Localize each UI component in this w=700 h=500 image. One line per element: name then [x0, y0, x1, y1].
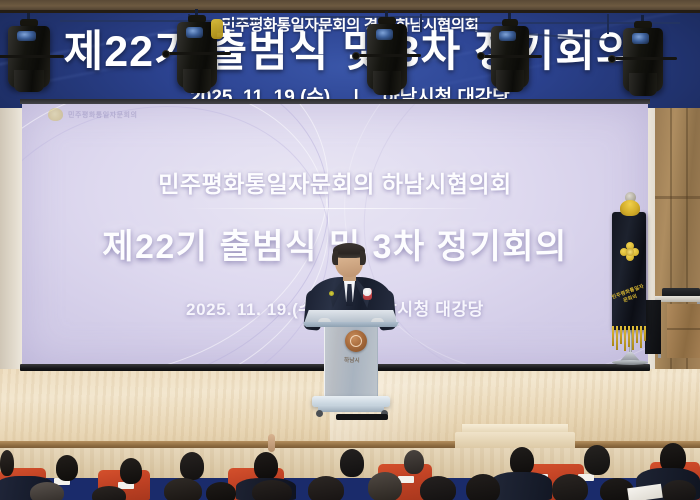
- light-lens: [376, 29, 394, 40]
- audience-person-head: [552, 474, 588, 500]
- flag-tassel: [620, 200, 640, 216]
- stage-light-fixture: [367, 24, 407, 90]
- light-yoke-arm: [0, 55, 64, 58]
- speaker-lapel-corsage: [363, 288, 372, 300]
- light-barrel: [496, 70, 523, 92]
- event-photograph: 민주평화통일자문회의 경기 하남시협의회 제22기 출범식 및 3차 정기회의 …: [0, 0, 700, 500]
- slide-divider: [185, 208, 485, 209]
- audience-person-head: [92, 486, 126, 500]
- flag-emblem-icon: [620, 242, 639, 261]
- audience-person-head: [510, 447, 534, 475]
- speaker-hair-side: [360, 251, 366, 265]
- flag-fringe: [608, 326, 650, 352]
- light-yoke-arm: [163, 52, 230, 55]
- wall-left-panel: [0, 108, 24, 370]
- audience-person-head: [206, 482, 236, 500]
- ceiling-wire: [607, 14, 609, 34]
- fringe-strand: [644, 326, 646, 341]
- audience-person-head: [56, 455, 78, 481]
- flag-stand: [612, 352, 648, 364]
- light-barrel: [183, 69, 212, 93]
- light-lens: [499, 31, 516, 42]
- fringe-strand: [636, 326, 638, 343]
- audience-person-head: [308, 476, 344, 500]
- light-yoke-arm: [609, 57, 676, 60]
- light-color-gel: [211, 19, 223, 39]
- audience-person-head: [420, 476, 456, 500]
- audience-person-head: [30, 482, 64, 500]
- banner-headline: 제22기 출범식 및 3차 정기회의: [64, 31, 637, 74]
- flag-stand-base-plate: [612, 360, 648, 365]
- audience-person-head: [252, 480, 292, 500]
- audience-person-head: [466, 474, 500, 500]
- flag-cloth: [612, 212, 646, 330]
- wall-trim-band: [655, 196, 700, 199]
- stage-light-fixture: [8, 26, 50, 88]
- slide-logo: 민주평화통일자문회의: [48, 107, 188, 122]
- audience-raised-hand: [268, 434, 275, 452]
- light-barrel: [629, 73, 658, 96]
- podium-emblem-ring: [350, 335, 362, 347]
- back-wooden-box: [667, 304, 700, 358]
- fringe-strand: [616, 326, 618, 350]
- slide-logo-text: 민주평화통일자문회의: [68, 110, 137, 120]
- ceiling-strip: [0, 0, 700, 13]
- fringe-strand: [628, 326, 630, 347]
- screen-top-frame: [20, 99, 650, 104]
- slide-date: 2025. 11. 19.(수): [186, 300, 321, 319]
- light-yoke-arm: [353, 54, 420, 57]
- ceiling-wire: [60, 20, 260, 22]
- stage-floor-object: [336, 414, 388, 420]
- audience-person-head: [340, 449, 364, 477]
- stage-light-fixture: [177, 22, 217, 88]
- light-adjust-knob: [352, 52, 360, 60]
- emblem-center: [626, 248, 634, 256]
- audience-person-head: [662, 480, 696, 500]
- back-table-surface: [655, 296, 700, 302]
- audience-person-head: [120, 458, 142, 484]
- podium-lectern-edge: [303, 322, 399, 327]
- speaker-lapel-pin: [329, 291, 334, 296]
- stage-light-fixture: [491, 26, 529, 88]
- speaker-hair-side: [332, 251, 338, 265]
- fringe-strand: [620, 326, 622, 344]
- light-adjust-knob: [477, 52, 485, 60]
- fringe-strand: [612, 326, 614, 346]
- fringe-strand: [632, 326, 634, 350]
- back-box-seam: [667, 328, 700, 330]
- light-lens: [17, 31, 35, 42]
- podium-base-lower: [318, 405, 384, 412]
- light-adjust-knob: [608, 55, 616, 63]
- audience-person-head: [404, 450, 424, 474]
- podium-emblem-icon: [345, 330, 367, 352]
- audience-person-head: [0, 450, 14, 476]
- audience-person-head: [254, 452, 278, 480]
- stage-light-fixture: [623, 28, 663, 92]
- audience-person-head: [180, 452, 204, 480]
- fringe-strand: [640, 326, 642, 348]
- audience-person-head: [164, 478, 202, 500]
- podium-emblem-label: 하남시: [331, 356, 373, 364]
- podium-caster-wheel: [316, 410, 323, 417]
- light-barrel: [14, 70, 44, 92]
- audience-person-head: [584, 445, 610, 475]
- light-barrel: [373, 71, 402, 95]
- audience-person-head: [368, 472, 402, 500]
- ceiling-wire: [420, 14, 422, 32]
- slide-title-line-1: 민주평화통일자문회의 하남시협의회: [22, 165, 648, 199]
- aisle-step-lower: [455, 432, 575, 448]
- slide-logo-mark-icon: [48, 108, 63, 121]
- light-lens: [632, 33, 650, 44]
- light-yoke-arm: [478, 55, 542, 58]
- light-lens: [186, 27, 204, 38]
- light-adjust-knob: [162, 50, 170, 58]
- fringe-strand: [624, 326, 626, 351]
